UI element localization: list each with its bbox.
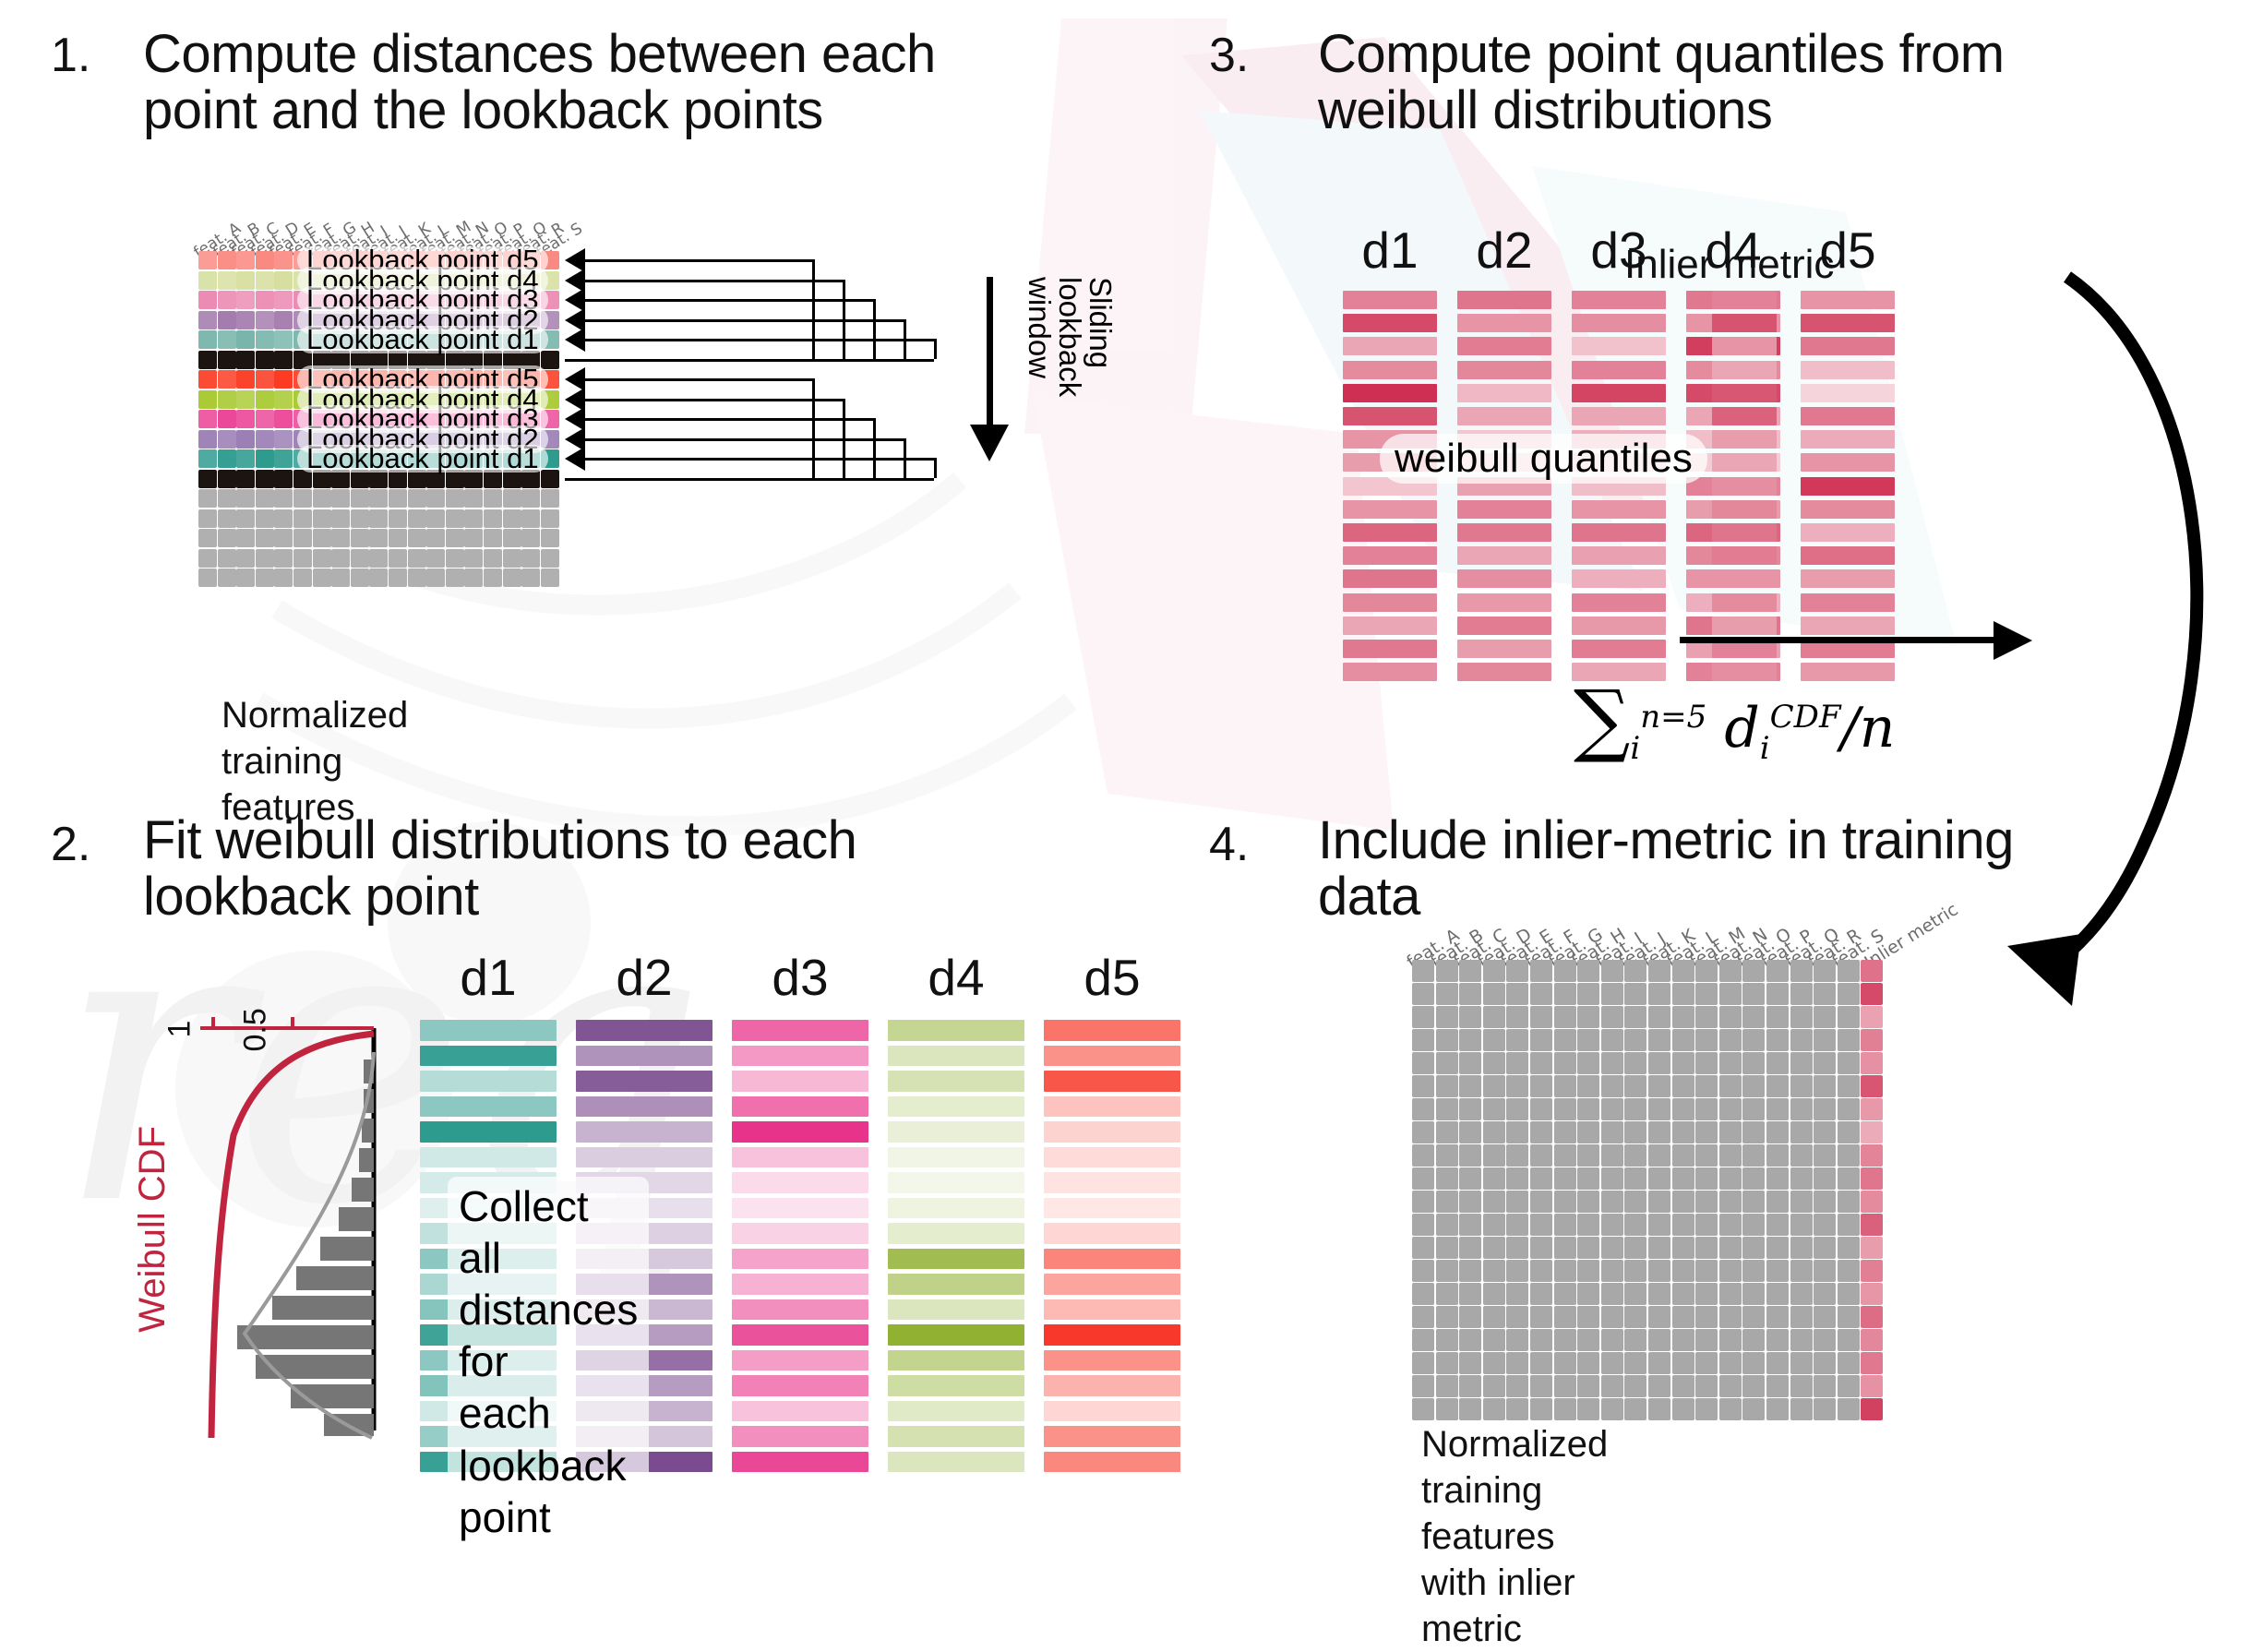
grid-cell [1814, 1398, 1836, 1420]
grid-cell [293, 509, 312, 528]
grid-cell [218, 509, 236, 528]
grid-cell [1601, 1075, 1623, 1097]
inlier-metric-cell [1861, 1052, 1883, 1074]
lookback-arrow-shaft [583, 378, 812, 381]
grid-cell [1436, 1052, 1458, 1074]
grid-cell [293, 489, 312, 508]
grid-cell [1719, 1306, 1742, 1328]
grid-cell [521, 489, 540, 508]
inlier-metric-cell [1861, 1006, 1883, 1028]
lookback-arrow-shaft [583, 399, 843, 401]
grid-cell [1601, 1144, 1623, 1167]
grid-cell [1695, 1121, 1718, 1143]
grid-cell [218, 449, 236, 468]
grid-cell [1554, 960, 1576, 982]
grid-cell [1577, 1121, 1599, 1143]
grid-cell [1719, 983, 1742, 1005]
quantile-cell [1343, 500, 1437, 519]
grid-cell [1719, 1029, 1742, 1051]
distance-cell [1044, 1147, 1180, 1168]
grid-cell [1483, 1006, 1505, 1028]
grid-cell [1766, 983, 1789, 1005]
grid-cell [1648, 1006, 1670, 1028]
quantile-cell [1572, 291, 1666, 309]
grid-cell [1719, 1237, 1742, 1259]
grid-cell [198, 489, 217, 508]
grid-cell [1766, 1283, 1789, 1305]
inlier-metric-cell [1861, 1260, 1883, 1282]
grid-cell [464, 549, 483, 568]
grid-cell [1719, 960, 1742, 982]
grid-cell [1554, 1052, 1576, 1074]
text-line: Include inlier-metric in training [1318, 812, 2241, 868]
quantile-cell [1801, 361, 1895, 379]
grid-cell [1412, 1006, 1434, 1028]
grid-cell [1601, 1352, 1623, 1374]
distance-cell [1044, 1198, 1180, 1219]
grid-cell [1459, 1283, 1481, 1305]
grid-cell [1601, 1283, 1623, 1305]
grid-cell [408, 509, 426, 528]
grid-cell [426, 509, 445, 528]
grid-cell [274, 351, 293, 369]
text-line: data [1318, 868, 2241, 925]
grid-cell [1436, 1306, 1458, 1328]
lookback-arrow-connector [934, 339, 937, 359]
grid-cell [1790, 1237, 1813, 1259]
inlier-metric-cell [1712, 314, 1777, 332]
grid-cell [503, 549, 521, 568]
grid-cell [503, 529, 521, 547]
grid-cell [1530, 1306, 1552, 1328]
text-line: weibull distributions [1318, 82, 2241, 138]
grid-cell [1719, 1052, 1742, 1074]
grid-cell [218, 430, 236, 449]
grid-cell [274, 271, 293, 290]
distance-cell [1044, 1172, 1180, 1193]
formula-body-sup: CDF [1770, 699, 1841, 736]
panel-3-formula: ∑in=5 diCDF/n [1574, 674, 1895, 767]
grid-cell [198, 291, 217, 309]
quantile-cell [1457, 384, 1551, 402]
grid-cell [1814, 1075, 1836, 1097]
grid-cell [1506, 1283, 1528, 1305]
figure-root: req 1. Compute distances between eachpoi… [0, 0, 2251, 1565]
grid-cell [218, 549, 236, 568]
grid-cell [1648, 1329, 1670, 1351]
grid-cell [1530, 1006, 1552, 1028]
grid-cell [313, 489, 331, 508]
distance-cell [732, 1096, 868, 1118]
grid-cell [1530, 1398, 1552, 1420]
inlier-metric-cell [1712, 407, 1777, 425]
grid-cell [1459, 1006, 1481, 1028]
grid-cell [1483, 983, 1505, 1005]
grid-cell [1530, 1352, 1552, 1374]
formula-tail: /n [1841, 696, 1896, 760]
grid-cell [1838, 1075, 1860, 1097]
lookback-arrow-shaft [583, 280, 843, 282]
grid-cell [1742, 1167, 1765, 1190]
grid-cell [1766, 1029, 1789, 1051]
grid-cell [1506, 1144, 1528, 1167]
weibull-cdf-curve-label: Weibull CDF [132, 1126, 174, 1333]
grid-cell [256, 549, 274, 568]
grid-cell [1554, 1375, 1576, 1397]
grid-cell [1577, 1006, 1599, 1028]
text-line: point and the lookback points [143, 82, 1094, 138]
grid-cell [1483, 960, 1505, 982]
distance-cell [732, 1299, 868, 1321]
grid-cell [1577, 1283, 1599, 1305]
grid-cell [1436, 1283, 1458, 1305]
grid-cell [1459, 1375, 1481, 1397]
grid-cell [1719, 1121, 1742, 1143]
grid-cell [1814, 1052, 1836, 1074]
grid-cell [1530, 1144, 1552, 1167]
quantile-cell [1572, 384, 1666, 402]
quantile-cell [1343, 384, 1437, 402]
grid-cell [198, 330, 217, 349]
grid-cell [274, 430, 293, 449]
inlier-metric-cell [1712, 477, 1777, 496]
quantile-cell [1457, 500, 1551, 519]
grid-cell [1412, 960, 1434, 982]
grid-cell [218, 251, 236, 269]
grid-cell [503, 509, 521, 528]
distance-cell [420, 1096, 557, 1118]
grid-cell [1459, 1237, 1481, 1259]
grid-cell [1412, 1075, 1434, 1097]
grid-cell [1506, 1237, 1528, 1259]
grid-cell [541, 489, 559, 508]
grid-cell [1412, 1237, 1434, 1259]
distance-cell [1044, 1096, 1180, 1118]
quantile-cell [1457, 314, 1551, 332]
quantile-cell [1457, 593, 1551, 612]
grid-cell [1719, 1098, 1742, 1120]
distance-cell [1044, 1299, 1180, 1321]
grid-cell [1672, 983, 1694, 1005]
distance-cell [888, 1147, 1024, 1168]
inlier-metric-cell [1861, 1398, 1883, 1420]
inlier-metric-cell [1712, 361, 1777, 379]
grid-cell [218, 271, 236, 290]
grid-cell [1742, 1398, 1765, 1420]
grid-cell [1742, 1214, 1765, 1236]
grid-cell [1648, 1260, 1670, 1282]
grid-cell [1719, 1075, 1742, 1097]
grid-cell [351, 569, 369, 587]
grid-cell [313, 569, 331, 587]
grid-cell [198, 470, 217, 488]
quantile-cell [1572, 617, 1666, 635]
grid-cell [274, 410, 293, 428]
grid-cell [1672, 1398, 1694, 1420]
grid-cell [1814, 1029, 1836, 1051]
grid-cell [1577, 1237, 1599, 1259]
grid-cell [1790, 1306, 1813, 1328]
grid-cell [274, 529, 293, 547]
grid-cell [1412, 1306, 1434, 1328]
grid-cell [198, 449, 217, 468]
grid-cell [1506, 1167, 1528, 1190]
distance-cell [732, 1147, 868, 1168]
grid-cell [1506, 960, 1528, 982]
text-line: with inlier metric [1421, 1560, 1608, 1652]
grid-cell [1838, 1352, 1860, 1374]
grid-cell [1695, 1398, 1718, 1420]
sum-lower: i [1630, 730, 1640, 767]
quantile-cell [1572, 593, 1666, 612]
distance-cell [732, 1020, 868, 1041]
text-line: Fit weibull distributions to each [143, 812, 1094, 868]
grid-cell [1742, 1052, 1765, 1074]
grid-cell [1814, 1260, 1836, 1282]
grid-cell [541, 529, 559, 547]
grid-cell [1459, 1167, 1481, 1190]
grid-cell [236, 330, 255, 349]
grid-cell [1577, 1167, 1599, 1190]
grid-cell [1672, 1121, 1694, 1143]
grid-cell [1459, 983, 1481, 1005]
grid-cell [484, 509, 502, 528]
quantile-cell [1457, 361, 1551, 379]
inlier-metric-cell [1861, 1029, 1883, 1051]
grid-cell [198, 509, 217, 528]
grid-cell [1766, 1352, 1789, 1374]
quantile-cell [1457, 523, 1551, 542]
grid-cell [274, 470, 293, 488]
grid-cell [1436, 1167, 1458, 1190]
distance-cell [888, 1223, 1024, 1244]
grid-cell [1412, 1283, 1434, 1305]
inlier-metric-cell [1861, 983, 1883, 1005]
grid-cell [1672, 1214, 1694, 1236]
grid-cell [1695, 1329, 1718, 1351]
grid-cell [1814, 1006, 1836, 1028]
grid-cell [1742, 1237, 1765, 1259]
grid-cell [1436, 1006, 1458, 1028]
grid-cell [1742, 1191, 1765, 1213]
grid-cell [1814, 1214, 1836, 1236]
grid-cell [1624, 1075, 1646, 1097]
distance-cell [888, 1350, 1024, 1371]
grid-cell [218, 351, 236, 369]
grid-cell [1838, 1052, 1860, 1074]
grid-cell [1554, 1306, 1576, 1328]
grid-cell [331, 529, 350, 547]
grid-cell [351, 549, 369, 568]
quantile-cell [1572, 361, 1666, 379]
grid-cell [256, 390, 274, 409]
grid-cell [1766, 1006, 1789, 1028]
grid-cell [274, 449, 293, 468]
grid-cell [256, 509, 274, 528]
grid-cell [541, 549, 559, 568]
grid-cell [1814, 1306, 1836, 1328]
grid-cell [236, 410, 255, 428]
quantile-cell [1343, 593, 1437, 612]
distance-cell [576, 1121, 712, 1143]
grid-cell [1624, 1329, 1646, 1351]
grid-cell [1814, 1191, 1836, 1213]
panel-3-title: Compute point quantiles fromweibull dist… [1318, 26, 2241, 139]
grid-cell [331, 549, 350, 568]
grid-cell [1719, 1260, 1742, 1282]
grid-cell [198, 430, 217, 449]
quantile-cell [1457, 407, 1551, 425]
formula-body: d [1706, 696, 1759, 760]
grid-cell [1577, 1098, 1599, 1120]
distance-cell [1044, 1324, 1180, 1346]
inlier-metric-cell [1861, 1167, 1883, 1190]
grid-cell [1436, 1214, 1458, 1236]
distance-cell [732, 1274, 868, 1295]
grid-cell [1412, 1214, 1434, 1236]
distance-cell [1044, 1274, 1180, 1295]
grid-cell [236, 509, 255, 528]
distance-cell [420, 1046, 557, 1067]
grid-cell [389, 529, 407, 547]
text-line: Collect all distances for [459, 1180, 638, 1387]
grid-cell [1695, 1214, 1718, 1236]
grid-cell [1483, 1144, 1505, 1167]
quantile-cell [1343, 663, 1437, 681]
text-line: lookback point [143, 868, 1094, 925]
quantile-cell [1572, 569, 1666, 588]
grid-cell [1742, 1329, 1765, 1351]
lookback-arrow-connector [812, 378, 815, 478]
grid-cell [218, 330, 236, 349]
grid-cell [1601, 1306, 1623, 1328]
grid-cell [1672, 1006, 1694, 1028]
inlier-metric-cell [1861, 1191, 1883, 1213]
grid-cell [198, 251, 217, 269]
inlier-metric-cell [1861, 1283, 1883, 1305]
grid-cell [1577, 1398, 1599, 1420]
inlier-metric-cell [1861, 1306, 1883, 1328]
grid-cell [464, 489, 483, 508]
grid-cell [1483, 1052, 1505, 1074]
grid-cell [1742, 983, 1765, 1005]
grid-cell [1530, 1167, 1552, 1190]
grid-cell [256, 370, 274, 389]
grid-cell [1506, 1398, 1528, 1420]
grid-cell [1530, 1052, 1552, 1074]
sum-arrow-shaft [1680, 637, 2003, 643]
grid-cell [1554, 1144, 1576, 1167]
grid-cell [1719, 1398, 1742, 1420]
text-line: each lookback point [459, 1387, 638, 1542]
grid-cell [389, 489, 407, 508]
grid-cell [1790, 1283, 1813, 1305]
quantile-cell [1572, 640, 1666, 658]
distance-cell [888, 1071, 1024, 1092]
grid-cell [1648, 960, 1670, 982]
grid-cell [1412, 1029, 1434, 1051]
grid-cell [1483, 1075, 1505, 1097]
grid-cell [521, 549, 540, 568]
grid-cell [331, 489, 350, 508]
quantile-column-label: d2 [1457, 221, 1551, 280]
grid-cell [1790, 1144, 1813, 1167]
grid-cell [1506, 1214, 1528, 1236]
panel-4-caption: Normalized training featureswith inlier … [1421, 1421, 1608, 1652]
grid-cell [331, 509, 350, 528]
inlier-metric-cell [1712, 523, 1777, 542]
grid-cell [1624, 1121, 1646, 1143]
grid-cell [198, 351, 217, 369]
grid-cell [1838, 1121, 1860, 1143]
grid-cell [1436, 1329, 1458, 1351]
grid-cell [1459, 1329, 1481, 1351]
distance-cell [888, 1249, 1024, 1270]
grid-cell [1719, 1144, 1742, 1167]
quantile-cell [1457, 546, 1551, 565]
quantile-cell [1572, 523, 1666, 542]
inlier-metric-cell [1712, 593, 1777, 612]
grid-cell [1459, 1398, 1481, 1420]
grid-cell [1577, 1306, 1599, 1328]
grid-cell [1412, 1329, 1434, 1351]
grid-cell [1790, 1052, 1813, 1074]
distance-cell [420, 1147, 557, 1168]
grid-cell [198, 370, 217, 389]
quantile-cell [1801, 337, 1895, 355]
grid-cell [236, 251, 255, 269]
grid-cell [1672, 1029, 1694, 1051]
grid-cell [1506, 1075, 1528, 1097]
quantile-cell [1343, 617, 1437, 635]
grid-cell [369, 489, 388, 508]
grid-cell [1838, 1214, 1860, 1236]
grid-cell [236, 529, 255, 547]
grid-cell [331, 569, 350, 587]
grid-cell [1624, 1306, 1646, 1328]
grid-cell [1506, 1260, 1528, 1282]
grid-cell [1554, 1260, 1576, 1282]
grid-cell [236, 311, 255, 329]
grid-cell [1554, 1214, 1576, 1236]
grid-cell [1601, 1121, 1623, 1143]
inlier-metric-cell [1861, 960, 1883, 982]
grid-cell [1624, 1029, 1646, 1051]
grid-cell [1530, 1260, 1552, 1282]
quantile-cell [1457, 617, 1551, 635]
grid-cell [1412, 1398, 1434, 1420]
quantile-cell [1343, 361, 1437, 379]
grid-cell [1530, 1191, 1552, 1213]
grid-cell [541, 351, 559, 369]
grid-cell [389, 569, 407, 587]
grid-cell [1766, 1121, 1789, 1143]
grid-cell [1624, 1398, 1646, 1420]
grid-cell [1790, 1214, 1813, 1236]
grid-cell [1695, 1029, 1718, 1051]
distance-cell [732, 1071, 868, 1092]
grid-cell [1766, 1306, 1789, 1328]
quantile-cell [1801, 523, 1895, 542]
grid-cell [1436, 1191, 1458, 1213]
quantile-cell [1801, 617, 1895, 635]
grid-cell [1624, 1144, 1646, 1167]
grid-cell [1838, 1329, 1860, 1351]
inlier-metric-cell [1712, 453, 1777, 472]
grid-cell [426, 549, 445, 568]
grid-cell [1436, 1144, 1458, 1167]
grid-cell [1601, 1329, 1623, 1351]
